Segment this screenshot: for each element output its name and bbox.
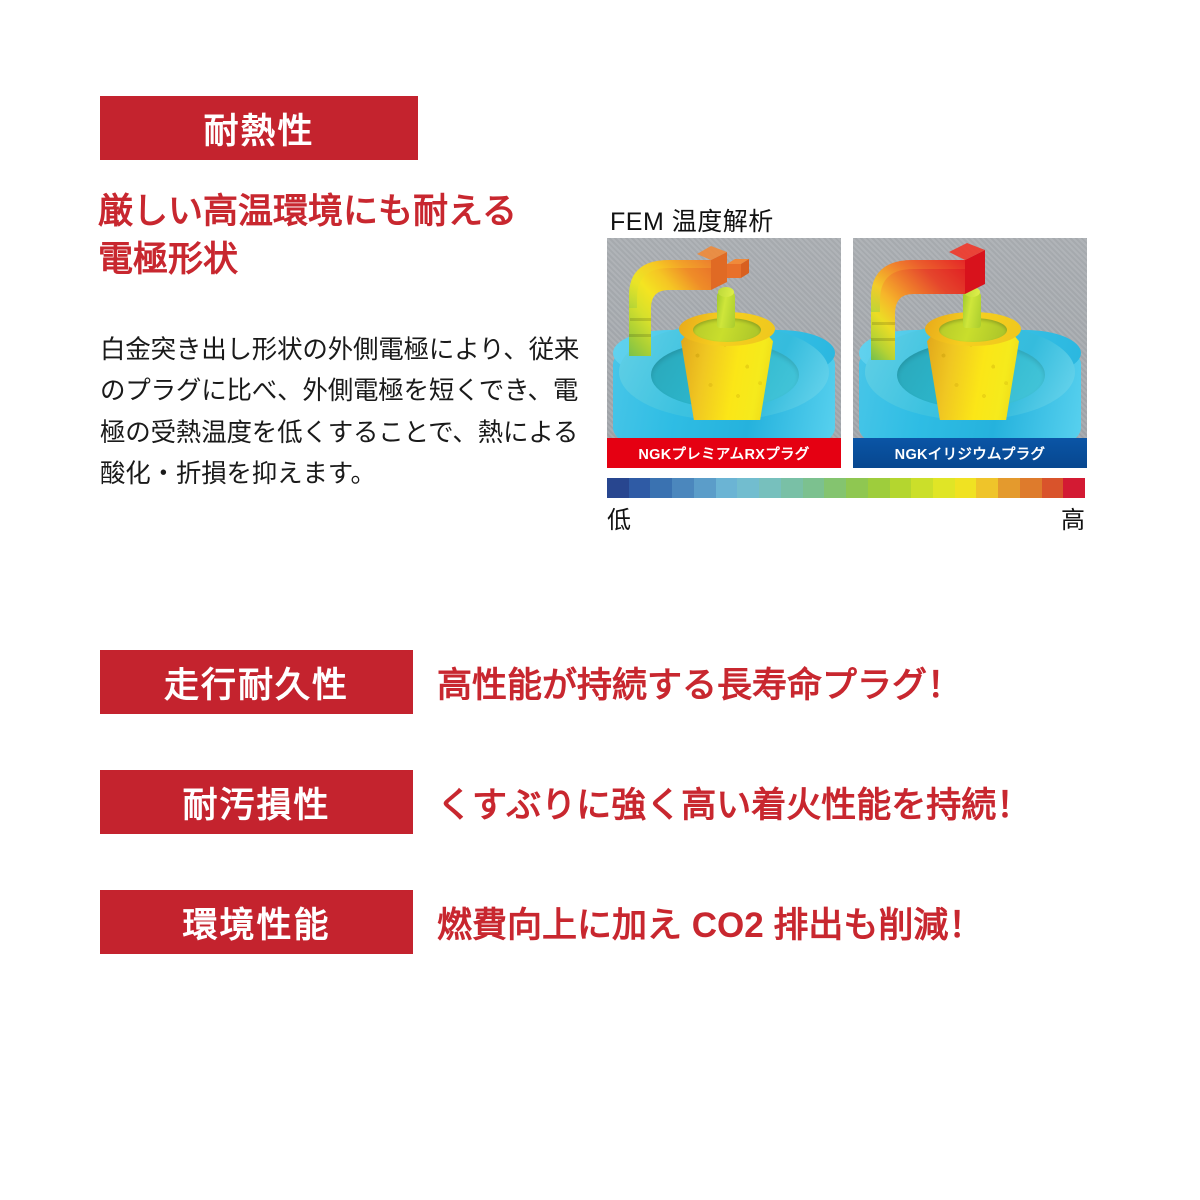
scale-swatch-21: [1063, 478, 1085, 498]
fem-caption-iridium: NGKイリジウムプラグ: [853, 438, 1087, 468]
scale-swatch-11: [846, 478, 868, 498]
fem-analysis-figure: NGKプレミアムRXプラグ: [607, 238, 1087, 468]
feature-row-fouling: 耐汚損性 くすぶりに強く高い着火性能を持続！: [100, 770, 1040, 834]
scale-swatch-2: [650, 478, 672, 498]
feature-row-environment: 環境性能 燃費向上に加え CO2 排出も削減！: [100, 890, 1040, 954]
ground-electrode-arm-iridium: [853, 238, 1087, 438]
fem-render-iridium: [853, 238, 1087, 438]
fem-caption-premium-rx: NGKプレミアムRXプラグ: [607, 438, 841, 468]
feature-text-fouling: くすぶりに強く高い着火性能を持続！: [437, 777, 1031, 828]
scale-swatch-12: [868, 478, 890, 498]
scale-swatch-17: [976, 478, 998, 498]
fem-color-scale-labels: 低 高: [607, 500, 1085, 535]
feature-text-durability: 高性能が持続する長寿命プラグ！: [437, 657, 962, 708]
feature-badge-fouling: 耐汚損性: [100, 770, 413, 834]
scale-low-label: 低: [607, 500, 631, 535]
fem-color-scale: [607, 478, 1085, 498]
heat-resistance-badge: 耐熱性: [100, 96, 418, 160]
scale-swatch-5: [716, 478, 738, 498]
fem-panel-iridium: NGKイリジウムプラグ: [853, 238, 1087, 468]
scale-swatch-8: [781, 478, 803, 498]
scale-swatch-19: [1020, 478, 1042, 498]
feature-badge-durability: 走行耐久性: [100, 650, 413, 714]
feature-row-durability: 走行耐久性 高性能が持続する長寿命プラグ！: [100, 650, 1040, 714]
scale-swatch-0: [607, 478, 629, 498]
scale-swatch-14: [911, 478, 933, 498]
fem-render-premium-rx: [607, 238, 841, 438]
scale-swatch-4: [694, 478, 716, 498]
scale-swatch-13: [890, 478, 912, 498]
fem-analysis-title: FEM 温度解析: [610, 202, 774, 238]
heat-resistance-body-text: 白金突き出し形状の外側電極により、従来のプラグに比べ、外側電極を短くでき、電極の…: [100, 330, 586, 495]
scale-swatch-6: [737, 478, 759, 498]
heat-resistance-headline: 厳しい高温環境にも耐える電極形状: [98, 188, 568, 285]
scale-swatch-7: [759, 478, 781, 498]
ground-electrode-arm-rx: [607, 238, 841, 438]
feature-badge-environment: 環境性能: [100, 890, 413, 954]
scale-swatch-20: [1042, 478, 1064, 498]
scale-swatch-3: [672, 478, 694, 498]
scale-swatch-18: [998, 478, 1020, 498]
scale-high-label: 高: [1061, 500, 1085, 535]
scale-swatch-9: [803, 478, 825, 498]
feature-text-environment: 燃費向上に加え CO2 排出も削減！: [437, 897, 983, 948]
scale-swatch-16: [955, 478, 977, 498]
scale-swatch-1: [629, 478, 651, 498]
scale-swatch-10: [824, 478, 846, 498]
scale-swatch-15: [933, 478, 955, 498]
fem-panel-premium-rx: NGKプレミアムRXプラグ: [607, 238, 841, 468]
